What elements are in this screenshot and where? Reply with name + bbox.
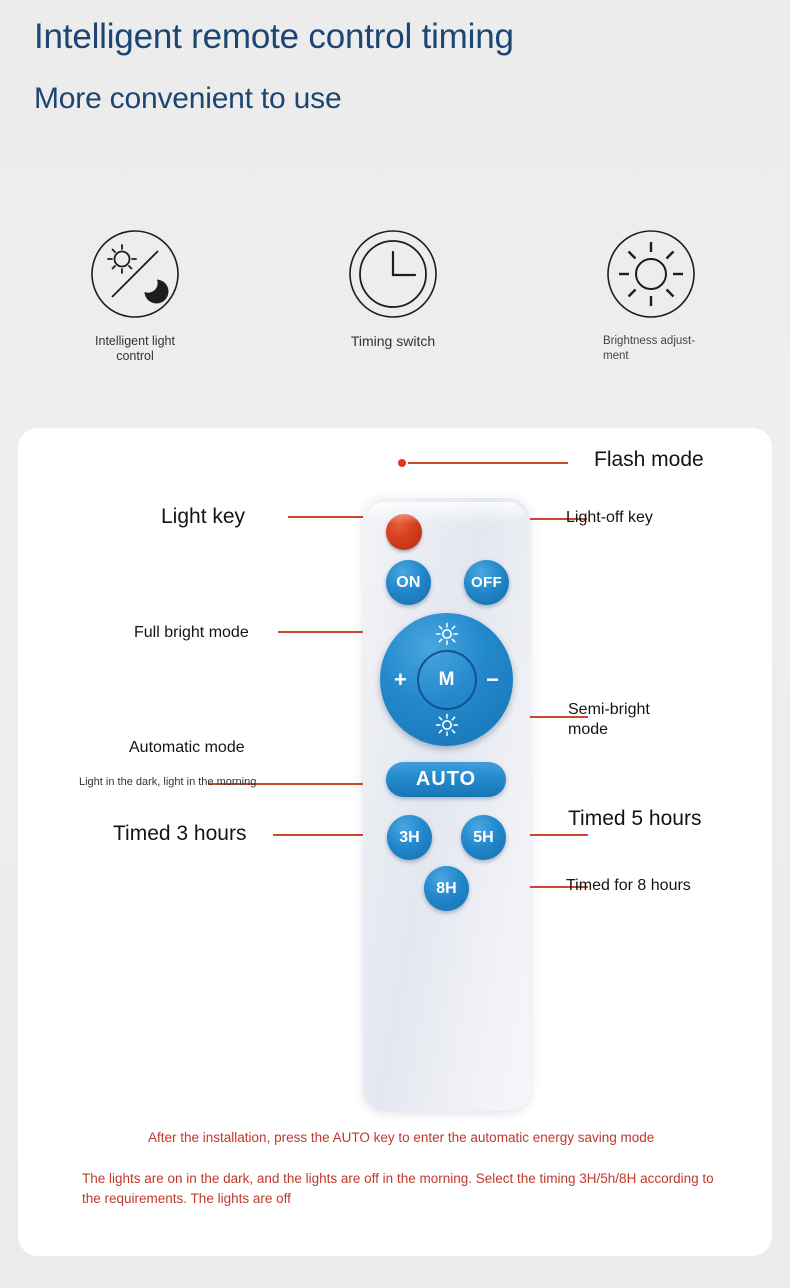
feature-timing-switch: Timing switch: [264, 228, 522, 364]
callout-automatic-mode: Automatic mode: [129, 739, 245, 757]
callout-full-bright-mode: Full bright mode: [134, 624, 249, 642]
off-button[interactable]: OFF: [464, 560, 509, 605]
on-button[interactable]: ON: [386, 560, 431, 605]
callout-light-key: Light key: [161, 505, 245, 529]
page-title: Intelligent remote control timing: [34, 16, 554, 57]
callout-timed-8-hours: Timed for 8 hours: [566, 877, 691, 895]
note-timing-info: The lights are on in the dark, and the l…: [82, 1169, 722, 1209]
sun-brightness-icon: [605, 228, 697, 320]
heading-block: Intelligent remote control timing More c…: [34, 16, 554, 117]
page-subtitle: More convenient to use: [34, 81, 554, 117]
auto-button[interactable]: AUTO: [386, 762, 506, 797]
brightness-pad[interactable]: + − M: [380, 613, 513, 746]
callout-flash-mode: Flash mode: [594, 448, 704, 472]
full-bright-sun-icon: [435, 622, 459, 646]
callout-light-off-key: Light-off key: [566, 509, 653, 527]
callout-timed-3-hours: Timed 3 hours: [113, 822, 246, 846]
remote-diagram-card: ON OFF + − M: [18, 428, 772, 1256]
mode-button[interactable]: M: [417, 650, 477, 710]
callout-semi-bright-mode: Semi-bright mode: [568, 700, 688, 740]
timer-8h-button[interactable]: 8H: [424, 866, 469, 911]
semi-bright-sun-icon: [435, 713, 459, 737]
clock-icon: [347, 228, 439, 320]
timer-5h-button[interactable]: 5H: [461, 815, 506, 860]
remote-control-body: ON OFF + − M: [363, 497, 530, 1111]
feature-row: Intelligent light control Timing switch: [0, 228, 790, 364]
callout-timed-5-hours: Timed 5 hours: [568, 807, 701, 831]
feature-label: Intelligent light control: [80, 334, 190, 364]
feature-intelligent-light-control: Intelligent light control: [6, 228, 264, 364]
callout-automatic-mode-sub: Light in the dark, light in the morning: [79, 776, 256, 788]
note-auto-key: After the installation, press the AUTO k…: [148, 1128, 688, 1148]
day-night-sensor-icon: [89, 228, 181, 320]
brightness-up-button[interactable]: +: [394, 669, 407, 691]
leader-dot-flash: [398, 459, 406, 467]
flash-mode-button[interactable]: [386, 514, 422, 550]
leader-line-flash: [408, 462, 568, 464]
feature-brightness-adjustment: Brightness adjust-ment: [522, 228, 780, 364]
brightness-down-button[interactable]: −: [486, 669, 499, 691]
feature-label: Brightness adjust-ment: [603, 334, 699, 364]
timer-3h-button[interactable]: 3H: [387, 815, 432, 860]
feature-label: Timing switch: [351, 334, 435, 349]
